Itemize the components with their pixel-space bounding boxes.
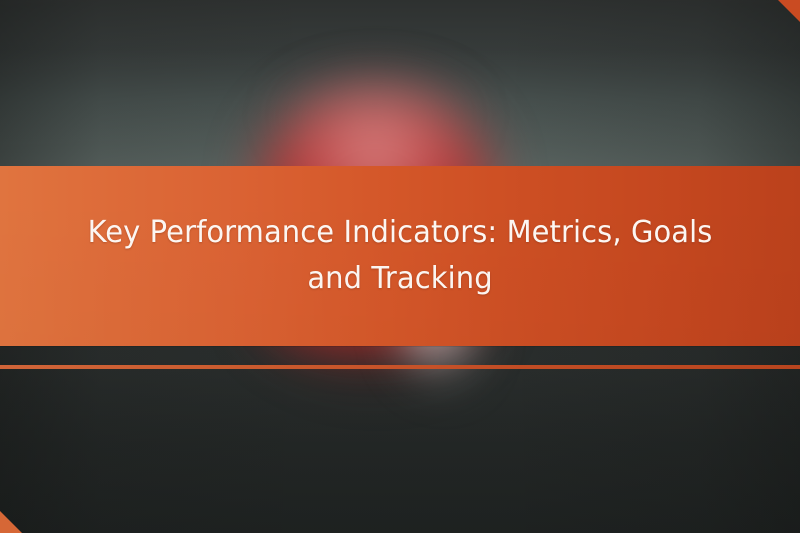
title-card: Key Performance Indicators: Metrics, Goa…	[0, 0, 800, 533]
title-banner: Key Performance Indicators: Metrics, Goa…	[0, 166, 800, 346]
accent-rule	[0, 365, 800, 369]
corner-accent-top-right	[778, 0, 800, 22]
corner-accent-bottom-left	[0, 511, 22, 533]
page-title-line-1: Key Performance Indicators: Metrics, Goa…	[88, 215, 713, 250]
page-title: Key Performance Indicators: Metrics, Goa…	[14, 210, 786, 301]
page-title-line-2: and Tracking	[307, 261, 492, 296]
